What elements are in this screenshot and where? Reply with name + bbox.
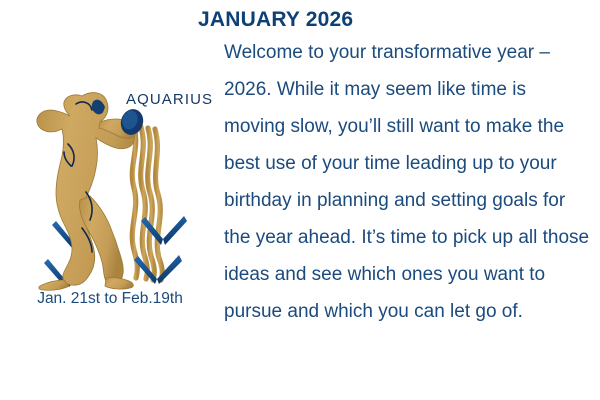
water-stream-group: [132, 126, 162, 280]
horoscope-card: AQUARIUS Jan. 21st to Feb.19th JANUARY 2…: [0, 0, 600, 400]
article-body-paragraph: Welcome to your transformative year – 20…: [224, 34, 592, 330]
article-body: Welcome to your transformative year – 20…: [224, 34, 592, 330]
zodiac-panel: AQUARIUS Jan. 21st to Feb.19th: [0, 0, 220, 400]
page-title: JANUARY 2026: [198, 8, 353, 32]
article-section: JANUARY 2026 Welcome to your transformat…: [190, 0, 600, 400]
aquarius-figure-svg: [12, 88, 212, 293]
zodiac-date-range: Jan. 21st to Feb.19th: [0, 290, 220, 308]
aquarius-water-bearer-illustration: [12, 88, 212, 293]
